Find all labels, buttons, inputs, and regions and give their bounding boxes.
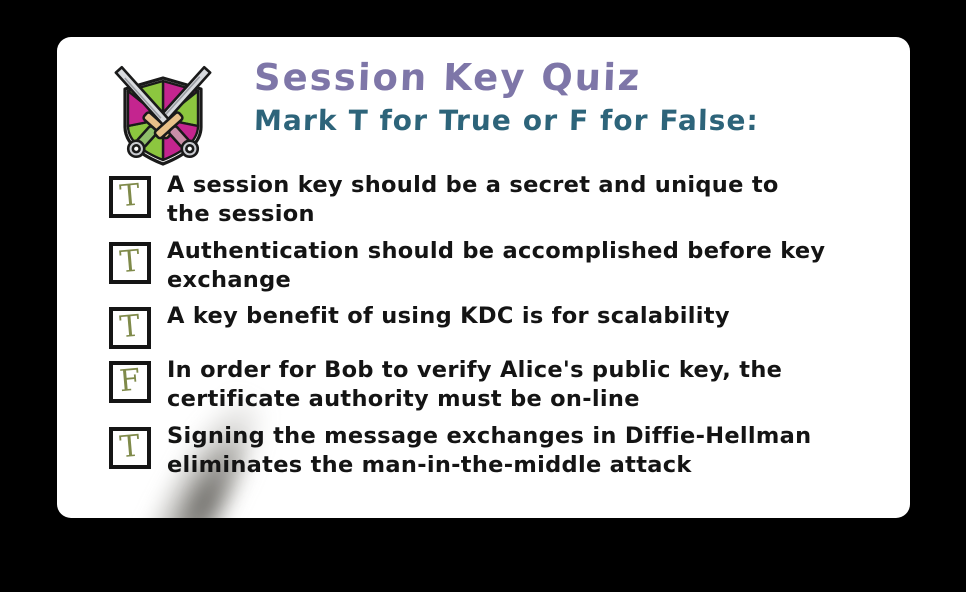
quiz-item: T Authentication should be accomplished … xyxy=(109,236,899,296)
question-text-4: In order for Bob to verify Alice's publi… xyxy=(167,355,899,415)
answer-checkbox-5[interactable]: T xyxy=(109,427,151,469)
question-line-2a: Authentication should be accomplished be… xyxy=(167,238,825,264)
title-block: Session Key Quiz Mark T for True or F fo… xyxy=(254,59,759,135)
slide-screen: Session Key Quiz Mark T for True or F fo… xyxy=(0,0,966,592)
question-line-3a: A key benefit of using KDC is for scalab… xyxy=(167,303,730,329)
quiz-item: T A session key should be a secret and u… xyxy=(109,170,899,230)
quiz-item: T A key benefit of using KDC is for scal… xyxy=(109,301,899,349)
crossed-swords-shield-icon xyxy=(103,57,223,173)
whiteboard-card: Session Key Quiz Mark T for True or F fo… xyxy=(57,37,910,518)
question-text-1: A session key should be a secret and uni… xyxy=(167,170,899,230)
question-text-3: A key benefit of using KDC is for scalab… xyxy=(167,301,899,331)
answer-checkbox-2[interactable]: T xyxy=(109,242,151,284)
quiz-item: T Signing the message exchanges in Diffi… xyxy=(109,421,899,481)
answer-mark-3: T xyxy=(112,311,148,344)
answer-mark-5: T xyxy=(112,430,148,463)
question-line-4b: certificate authority must be on-line xyxy=(167,385,899,414)
answer-mark-1: T xyxy=(112,180,148,213)
quiz-item: F In order for Bob to verify Alice's pub… xyxy=(109,355,899,415)
question-line-5b: eliminates the man-in-the-middle attack xyxy=(167,451,899,480)
question-text-2: Authentication should be accomplished be… xyxy=(167,236,899,296)
question-line-4a: In order for Bob to verify Alice's publi… xyxy=(167,357,782,383)
question-line-5a: Signing the message exchanges in Diffie-… xyxy=(167,423,811,449)
quiz-question-list: T A session key should be a secret and u… xyxy=(109,170,899,486)
question-text-5: Signing the message exchanges in Diffie-… xyxy=(167,421,899,481)
answer-mark-4: F xyxy=(112,365,148,398)
answer-mark-2: T xyxy=(112,245,148,278)
page-subtitle: Mark T for True or F for False: xyxy=(254,106,760,135)
question-line-1a: A session key should be a secret and uni… xyxy=(167,172,779,198)
question-line-1b: the session xyxy=(167,200,899,229)
answer-checkbox-1[interactable]: T xyxy=(109,176,151,218)
question-line-2b: exchange xyxy=(167,266,899,295)
page-title: Session Key Quiz xyxy=(253,59,759,98)
answer-checkbox-4[interactable]: F xyxy=(109,361,151,403)
slide-header: Session Key Quiz Mark T for True or F fo… xyxy=(103,49,883,169)
answer-checkbox-3[interactable]: T xyxy=(109,307,151,349)
